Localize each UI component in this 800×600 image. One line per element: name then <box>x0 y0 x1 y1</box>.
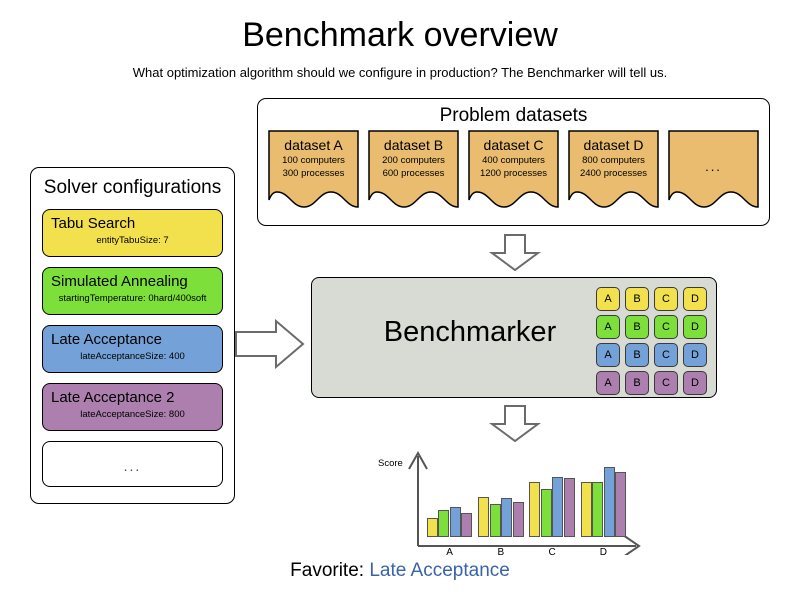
favorite-label: Favorite: <box>290 560 364 581</box>
dataset-name: dataset C <box>468 136 559 154</box>
chart-bar <box>615 472 626 537</box>
chart-bar <box>461 513 472 537</box>
solver-param: lateAcceptanceSize: 800 <box>51 408 214 421</box>
chart-bar <box>490 504 501 537</box>
dataset-processes: 1200 processes <box>468 167 559 180</box>
arrow-down-datasets-icon <box>489 233 541 278</box>
dataset-card[interactable]: dataset C400 computers1200 processes <box>468 130 559 216</box>
benchmark-tile[interactable]: C <box>654 371 678 395</box>
benchmark-tile[interactable]: C <box>654 343 678 367</box>
ellipsis-label: ... <box>668 158 759 176</box>
benchmark-tile[interactable]: D <box>683 371 707 395</box>
solver-card[interactable]: Late AcceptancelateAcceptanceSize: 400 <box>42 325 223 373</box>
chart-bar <box>592 482 603 537</box>
favorite-value: Late Acceptance <box>369 560 510 581</box>
benchmark-tile[interactable]: A <box>596 371 620 395</box>
benchmark-tile[interactable]: C <box>654 315 678 339</box>
chart-category-label: C <box>537 547 567 558</box>
dataset-card[interactable]: dataset D800 computers2400 processes <box>568 130 659 216</box>
benchmark-matrix-grid: ABCDABCDABCDABCD <box>596 287 707 395</box>
dataset-name: dataset D <box>568 136 659 154</box>
dataset-computers: 200 computers <box>368 154 459 167</box>
chart-bar <box>478 497 489 537</box>
problem-datasets-title: Problem datasets <box>258 99 769 127</box>
dataset-computers: 100 computers <box>268 154 359 167</box>
chart-bar <box>529 482 540 537</box>
solver-configurations-panel: Solver configurations Tabu SearchentityT… <box>30 167 235 504</box>
dataset-card[interactable]: dataset A100 computers300 processes <box>268 130 359 216</box>
dataset-text: dataset C400 computers1200 processes <box>468 130 559 180</box>
chart-category-label: D <box>588 547 618 558</box>
page-header: Benchmark overview What optimization alg… <box>0 0 800 80</box>
benchmark-tile[interactable]: C <box>654 287 678 311</box>
chart-bar <box>581 482 592 537</box>
arrow-down-results-icon <box>489 404 541 449</box>
solver-card[interactable]: Simulated AnnealingstartingTemperature: … <box>42 267 223 315</box>
chart-bar <box>513 502 524 537</box>
dataset-card[interactable]: dataset B200 computers600 processes <box>368 130 459 216</box>
solver-configurations-title: Solver configurations <box>31 168 234 199</box>
benchmark-tile[interactable]: A <box>596 287 620 311</box>
solver-param: lateAcceptanceSize: 400 <box>51 350 214 363</box>
dataset-processes: 300 processes <box>268 167 359 180</box>
chart-bar <box>564 478 575 537</box>
benchmarker-label: Benchmarker <box>350 316 590 349</box>
chart-category-label: B <box>486 547 516 558</box>
solver-param: entityTabuSize: 7 <box>51 234 214 247</box>
dataset-text: ... <box>668 130 759 176</box>
benchmark-tile[interactable]: A <box>596 315 620 339</box>
solver-configurations-list: Tabu SearchentityTabuSize: 7Simulated An… <box>31 199 234 487</box>
problem-datasets-panel: Problem datasets dataset A100 computers3… <box>257 98 770 226</box>
dataset-computers: 800 computers <box>568 154 659 167</box>
solver-name: Simulated Annealing <box>51 272 214 291</box>
benchmark-tile[interactable]: D <box>683 287 707 311</box>
dataset-name: dataset A <box>268 136 359 154</box>
favorite-line: Favorite: Late Acceptance <box>0 560 800 582</box>
chart-bar <box>427 518 438 537</box>
dataset-text: dataset A100 computers300 processes <box>268 130 359 180</box>
solver-card-more[interactable]: ... <box>42 441 223 487</box>
ellipsis-label: ... <box>124 458 142 474</box>
chart-bars <box>378 450 648 546</box>
chart-bar <box>450 507 461 537</box>
chart-bar <box>541 489 552 537</box>
benchmark-tile[interactable]: B <box>625 287 649 311</box>
problem-datasets-list: dataset A100 computers300 processesdatas… <box>258 130 769 216</box>
solver-name: Late Acceptance 2 <box>51 388 214 407</box>
benchmark-tile[interactable]: B <box>625 315 649 339</box>
dataset-text: dataset B200 computers600 processes <box>368 130 459 180</box>
arrow-right-icon <box>234 318 306 375</box>
dataset-card-more[interactable]: ... <box>668 130 759 216</box>
benchmark-tile[interactable]: B <box>625 371 649 395</box>
chart-bar <box>438 510 449 537</box>
chart-bar <box>604 467 615 537</box>
dataset-processes: 2400 processes <box>568 167 659 180</box>
solver-card[interactable]: Tabu SearchentityTabuSize: 7 <box>42 209 223 257</box>
dataset-name: dataset B <box>368 136 459 154</box>
page-subtitle: What optimization algorithm should we co… <box>0 65 800 80</box>
dataset-processes: 600 processes <box>368 167 459 180</box>
benchmark-tile[interactable]: D <box>683 343 707 367</box>
chart-bar <box>552 477 563 537</box>
benchmarker-box: Benchmarker ABCDABCDABCDABCD <box>311 277 717 398</box>
solver-name: Late Acceptance <box>51 330 214 349</box>
benchmark-tile[interactable]: A <box>596 343 620 367</box>
chart-category-label: A <box>435 547 465 558</box>
page-title: Benchmark overview <box>0 16 800 55</box>
benchmark-result-chart: Score ABCD <box>378 450 648 555</box>
dataset-text: dataset D800 computers2400 processes <box>568 130 659 180</box>
chart-bar <box>501 498 512 537</box>
solver-param: startingTemperature: 0hard/400soft <box>51 292 214 305</box>
benchmark-tile[interactable]: D <box>683 315 707 339</box>
benchmark-tile[interactable]: B <box>625 343 649 367</box>
solver-card[interactable]: Late Acceptance 2lateAcceptanceSize: 800 <box>42 383 223 431</box>
solver-name: Tabu Search <box>51 214 214 233</box>
dataset-computers: 400 computers <box>468 154 559 167</box>
